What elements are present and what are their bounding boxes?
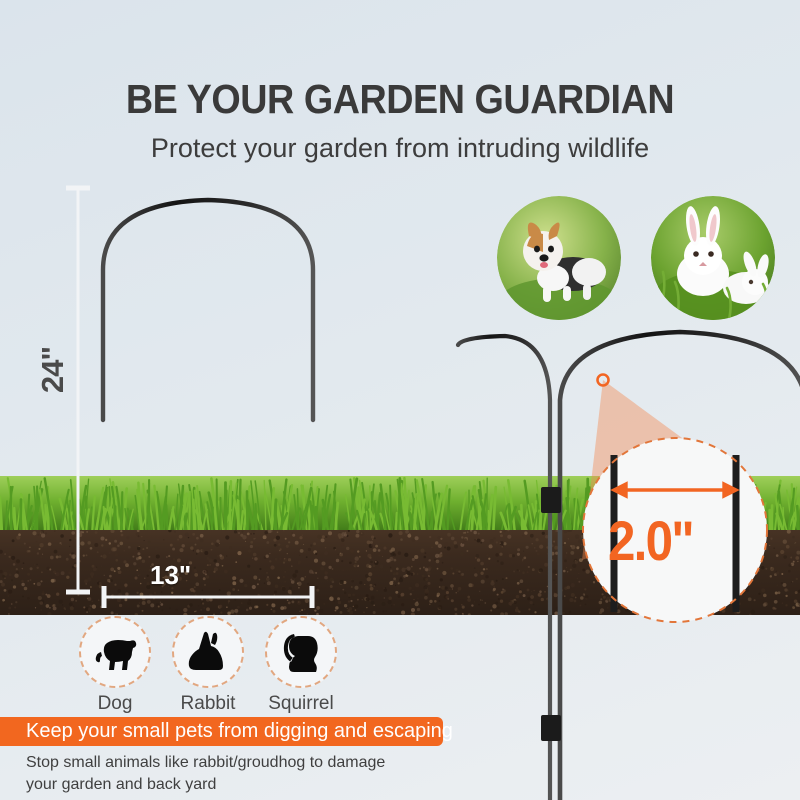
dog-silhouette-icon [92,632,138,672]
rabbit-silhouette-icon [187,631,229,673]
squirrel-icon-circle [265,616,337,688]
dog-icon-circle [79,616,151,688]
dog-photo [497,196,621,320]
page-subtitle: Protect your garden from intruding wildl… [0,133,800,164]
dog-icon-label: Dog [62,693,168,715]
rabbit-photo [651,196,775,320]
footnote-line-1: Stop small animals like rabbit/groudhog … [26,752,456,774]
animal-item-rabbit: Rabbit [155,616,261,715]
squirrel-icon-label: Squirrel [248,693,354,715]
animal-item-dog: Dog [62,616,168,715]
footnote-line-2: your garden and back yard [26,774,456,796]
height-dimension-label: 24" [35,347,71,393]
feature-banner-text: Keep your small pets from digging and es… [26,720,453,743]
wire-spacing-label: 2.0" [608,508,693,573]
page-title: BE YOUR GARDEN GUARDIAN [32,76,768,123]
animal-item-squirrel: Squirrel [248,616,354,715]
infographic-canvas: BE YOUR GARDEN GUARDIAN Protect your gar… [0,0,800,800]
squirrel-silhouette-icon [280,630,322,674]
rabbit-icon-label: Rabbit [155,693,261,715]
animal-icon-row: Dog Rabbit Squirrel [0,616,420,716]
width-dimension-line [104,586,312,608]
rabbit-icon-circle [172,616,244,688]
fence-panel-left [103,200,313,596]
feature-banner: Keep your small pets from digging and es… [0,717,443,746]
width-dimension-label: 13" [150,560,191,591]
footnote: Stop small animals like rabbit/groudhog … [26,752,456,795]
